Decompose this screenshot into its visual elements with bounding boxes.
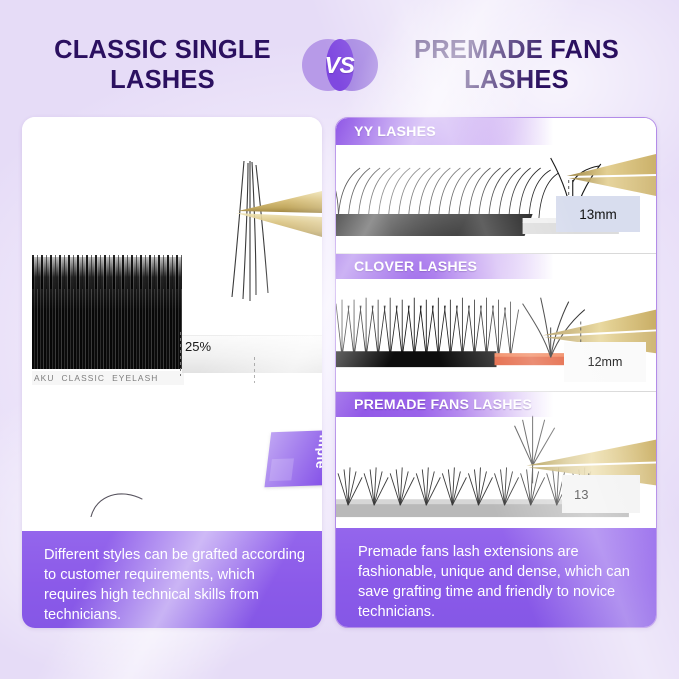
classic-caption: Different styles can be grafted accordin… [22, 531, 322, 628]
yy-lashes-title: YY LASHES [336, 124, 436, 140]
header: CLASSIC SINGLE LASHES VS PREMADE FANS LA… [0, 26, 679, 104]
clover-lashes-header: CLOVER LASHES [336, 254, 656, 279]
scattered-lash-curves [22, 387, 322, 517]
premade-fans-measure: 13 [562, 475, 640, 513]
tick-mark-right [254, 357, 255, 383]
tray-brand-text: AKU [34, 373, 55, 383]
section-premade-fans-lashes: PREMADE FANS LASHES 13 [336, 391, 656, 529]
premade-fans-panel: YY LASHES 13mm [335, 117, 657, 628]
clover-lashes-title: CLOVER LASHES [336, 259, 477, 275]
classic-lashes-panel: AKU CLASSIC EYELASH 25% mple [22, 117, 322, 628]
vs-badge: VS [302, 37, 378, 93]
left-title: CLASSIC SINGLE LASHES [28, 35, 298, 95]
right-title: PREMADE FANS LASHES [382, 35, 652, 95]
yy-lashes-header: YY LASHES [336, 118, 656, 145]
yy-lashes-measure: 13mm [556, 196, 640, 232]
premade-caption: Premade fans lash extensions are fashion… [336, 528, 656, 627]
tray-brand-label: AKU CLASSIC EYELASH [32, 371, 184, 385]
vs-label: VS [325, 52, 355, 79]
tray-product-text: EYELASH [112, 373, 158, 383]
clover-lashes-measure: 12mm [564, 342, 646, 382]
comparison-infographic: CLASSIC SINGLE LASHES VS PREMADE FANS LA… [0, 0, 679, 679]
section-yy-lashes: YY LASHES 13mm [336, 118, 656, 253]
tick-mark-left [180, 332, 181, 376]
classic-lashes-image: AKU CLASSIC EYELASH 25% mple [22, 117, 322, 531]
premade-fans-header: PREMADE FANS LASHES [336, 392, 656, 417]
premade-sections: YY LASHES 13mm [336, 118, 656, 530]
tray-type-text: CLASSIC [62, 373, 106, 383]
percent-label: 25% [185, 339, 211, 354]
section-clover-lashes: CLOVER LASHES 12mm [336, 253, 656, 391]
premade-fans-title: PREMADE FANS LASHES [336, 397, 532, 413]
classic-lash-tray-tips [32, 255, 182, 289]
